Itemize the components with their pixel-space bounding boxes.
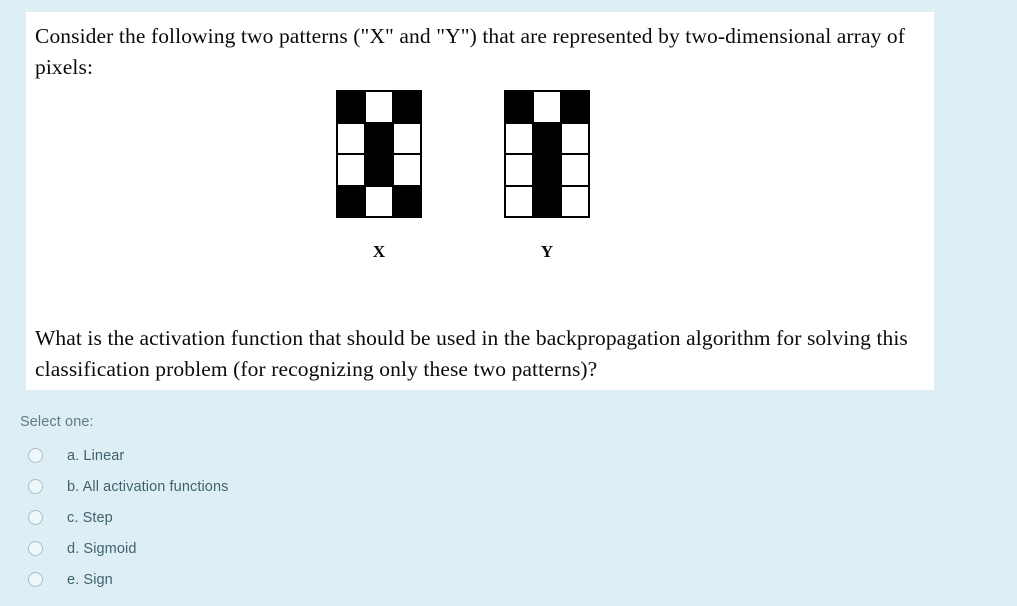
option-label-a[interactable]: a. Linear xyxy=(67,448,124,464)
pixel-cell xyxy=(561,123,589,155)
option-label-e[interactable]: e. Sign xyxy=(67,572,113,588)
pixel-cell xyxy=(393,186,421,218)
pixel-cell xyxy=(505,123,533,155)
pixel-cell xyxy=(533,123,561,155)
answer-options-list: a. Linearb. All activation functionsc. S… xyxy=(20,440,520,595)
radio-button-b[interactable] xyxy=(28,479,43,494)
question-prompt-text: What is the activation function that sho… xyxy=(35,323,927,385)
radio-button-e[interactable] xyxy=(28,572,43,587)
option-row-d[interactable]: d. Sigmoid xyxy=(20,533,520,564)
pixel-cell xyxy=(337,91,365,123)
pattern-figure-y: Y xyxy=(504,90,590,262)
pixel-cell xyxy=(505,154,533,186)
pixel-cell xyxy=(393,91,421,123)
pattern-label-y: Y xyxy=(504,242,590,262)
pixel-cell xyxy=(393,154,421,186)
pixel-cell xyxy=(533,154,561,186)
pixel-cell xyxy=(533,91,561,123)
select-one-label: Select one: xyxy=(20,414,94,430)
pixel-cell xyxy=(561,91,589,123)
pixel-cell xyxy=(505,91,533,123)
radio-button-c[interactable] xyxy=(28,510,43,525)
pixel-cell xyxy=(365,154,393,186)
pattern-label-x: X xyxy=(336,242,422,262)
pixel-cell xyxy=(337,154,365,186)
question-intro-text: Consider the following two patterns ("X"… xyxy=(35,21,927,83)
pixel-cell xyxy=(561,186,589,218)
option-row-c[interactable]: c. Step xyxy=(20,502,520,533)
option-label-b[interactable]: b. All activation functions xyxy=(67,479,229,495)
option-label-c[interactable]: c. Step xyxy=(67,510,113,526)
option-label-d[interactable]: d. Sigmoid xyxy=(67,541,137,557)
pixel-cell xyxy=(505,186,533,218)
option-row-b[interactable]: b. All activation functions xyxy=(20,471,520,502)
pixel-cell xyxy=(393,123,421,155)
radio-button-d[interactable] xyxy=(28,541,43,556)
pixel-cell xyxy=(561,154,589,186)
pixel-cell xyxy=(365,91,393,123)
pattern-figures-row: X Y xyxy=(26,90,934,280)
pixel-grid-y xyxy=(504,90,590,218)
pattern-figure-x: X xyxy=(336,90,422,262)
option-row-a[interactable]: a. Linear xyxy=(20,440,520,471)
pixel-grid-x xyxy=(336,90,422,218)
radio-button-a[interactable] xyxy=(28,448,43,463)
pixel-cell xyxy=(337,123,365,155)
pixel-cell xyxy=(365,186,393,218)
option-row-e[interactable]: e. Sign xyxy=(20,564,520,595)
pixel-cell xyxy=(365,123,393,155)
question-card: Consider the following two patterns ("X"… xyxy=(26,12,934,390)
pixel-cell xyxy=(533,186,561,218)
pixel-cell xyxy=(337,186,365,218)
